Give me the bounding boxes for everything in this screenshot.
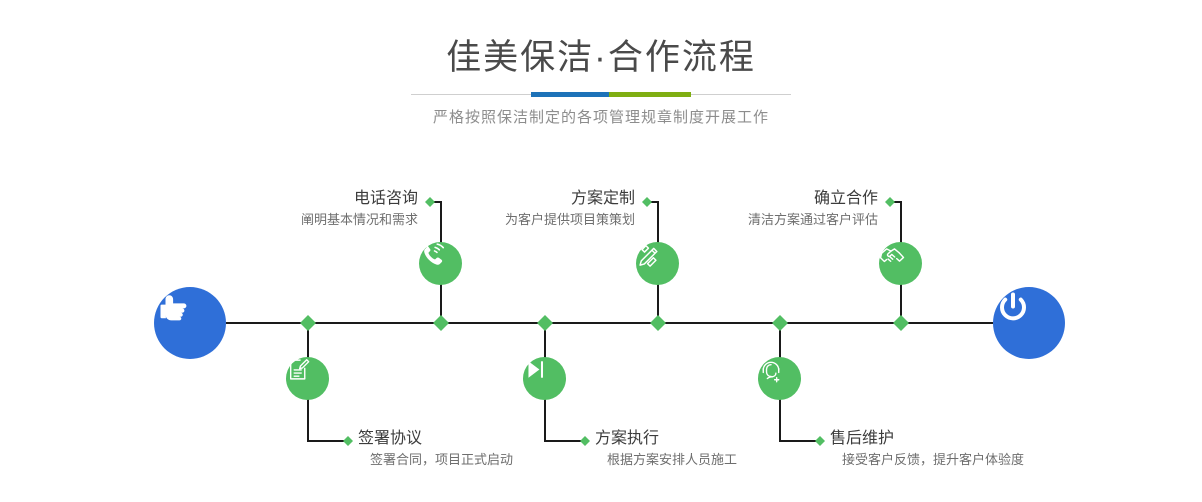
diamond-label-3: [642, 197, 652, 207]
step-desc-6: 接受客户反馈，提升客户体验度: [830, 450, 1024, 470]
step-icon-5[interactable]: [879, 242, 922, 285]
flow-connectors: [0, 0, 1202, 502]
label-diamond-markers: [343, 197, 895, 446]
diamond-label-2: [343, 436, 353, 446]
step-label-2: 签署协议 签署合同，项目正式启动: [358, 428, 513, 470]
pencil-design-icon: [636, 242, 662, 268]
step-icon-3[interactable]: [636, 242, 679, 285]
flow-start-node[interactable]: [154, 287, 226, 359]
step-desc-4: 根据方案安排人员施工: [595, 450, 737, 470]
diamond-spine-2: [433, 315, 449, 331]
phone-call-icon: [419, 242, 445, 268]
headset-support-icon: [758, 357, 784, 383]
step-desc-1: 阐明基本情况和需求: [301, 210, 418, 230]
hand-pointing-icon: [154, 287, 194, 327]
step-title-2: 签署协议: [358, 428, 513, 450]
step-title-1: 电话咨询: [301, 188, 418, 210]
step-label-4: 方案执行 根据方案安排人员施工: [595, 428, 737, 470]
flow-end-node[interactable]: [993, 287, 1065, 359]
step-icon-1[interactable]: [419, 242, 462, 285]
diamond-label-5: [885, 197, 895, 207]
step-title-4: 方案执行: [595, 428, 737, 450]
infographic-page: 佳美保洁·合作流程 严格按照保洁制定的各项管理规章制度开展工作: [0, 0, 1202, 502]
step-label-5: 确立合作 清洁方案通过客户评估: [748, 188, 878, 230]
step-label-1: 电话咨询 阐明基本情况和需求: [301, 188, 418, 230]
power-icon: [993, 287, 1033, 327]
diamond-spine-3: [537, 315, 553, 331]
step-label-3: 方案定制 为客户提供项目策策划: [505, 188, 635, 230]
process-flow-diagram: 电话咨询 阐明基本情况和需求 方案定制 为客户提供项目策策划 确立合作 清洁方案…: [0, 0, 1202, 502]
diamond-spine-4: [650, 315, 666, 331]
step-desc-2: 签署合同，项目正式启动: [358, 450, 513, 470]
document-sign-icon: [286, 357, 311, 382]
step-title-6: 售后维护: [830, 428, 1024, 450]
step-desc-5: 清洁方案通过客户评估: [748, 210, 878, 230]
step-title-3: 方案定制: [505, 188, 635, 210]
diamond-label-6: [815, 436, 825, 446]
step-desc-3: 为客户提供项目策策划: [505, 210, 635, 230]
play-execute-icon: [523, 357, 548, 382]
step-icon-6[interactable]: [758, 357, 801, 400]
step-label-6: 售后维护 接受客户反馈，提升客户体验度: [830, 428, 1024, 470]
diamond-spine-6: [893, 315, 909, 331]
diamond-label-4: [580, 436, 590, 446]
handshake-icon: [879, 242, 906, 269]
step-title-5: 确立合作: [748, 188, 878, 210]
diamond-label-1: [425, 197, 435, 207]
diamond-spine-1: [300, 315, 316, 331]
diamond-spine-5: [772, 315, 788, 331]
step-icon-2[interactable]: [286, 357, 329, 400]
step-icon-4[interactable]: [523, 357, 566, 400]
